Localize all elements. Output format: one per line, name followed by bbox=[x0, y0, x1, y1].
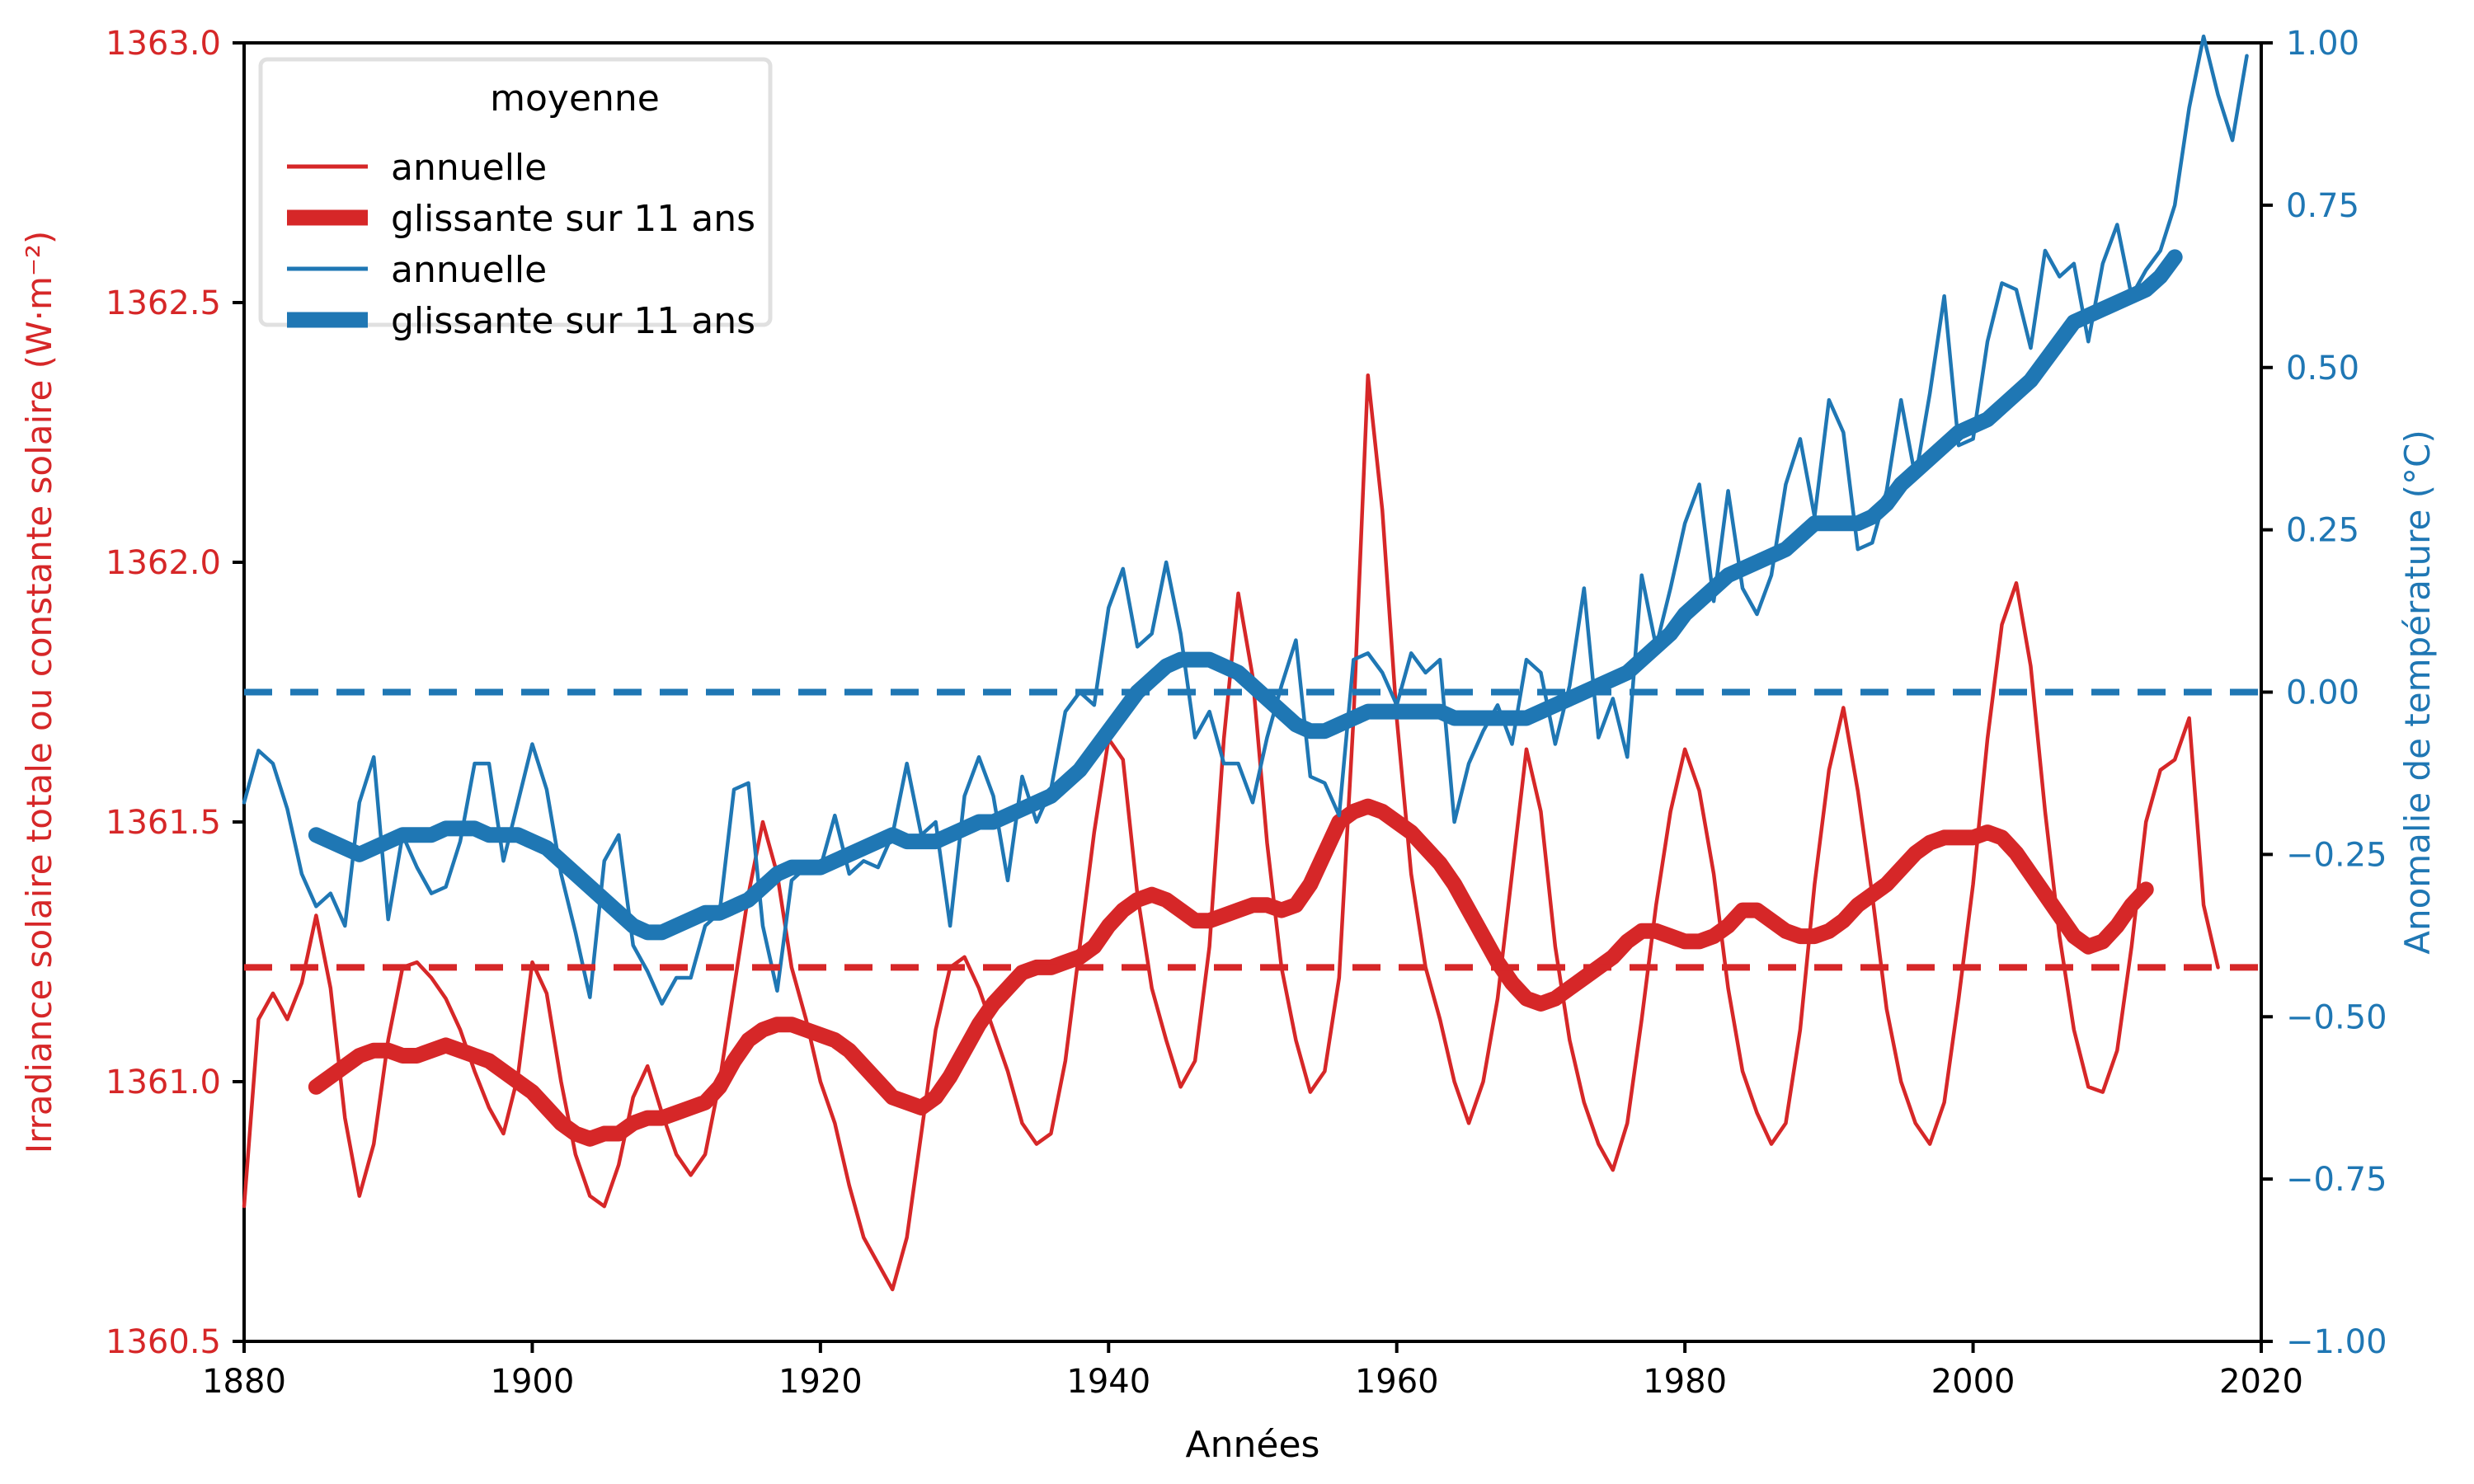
legend-label: annuelle bbox=[391, 147, 547, 189]
y-right-tick-label: 0.50 bbox=[2286, 350, 2359, 387]
x-tick-label: 1920 bbox=[778, 1363, 863, 1401]
y-left-tick-label: 1361.5 bbox=[106, 804, 221, 842]
y-right-tick-label: 0.25 bbox=[2286, 512, 2359, 550]
chart-svg: 18801900192019401960198020002020Années13… bbox=[0, 0, 2474, 1484]
x-tick-label: 1880 bbox=[202, 1363, 286, 1401]
x-tick-label: 1960 bbox=[1355, 1363, 1439, 1401]
chart-figure: 18801900192019401960198020002020Années13… bbox=[0, 0, 2474, 1484]
y-right-tick-label: −0.50 bbox=[2286, 998, 2387, 1036]
y-right-tick-label: 0.00 bbox=[2286, 674, 2359, 712]
y-left-axis-title: Irradiance solaire totale ou constante s… bbox=[19, 231, 59, 1154]
legend-label: glissante sur 11 ans bbox=[391, 198, 755, 240]
series-line bbox=[244, 375, 2218, 1289]
y-left-tick-label: 1362.5 bbox=[106, 284, 221, 322]
x-tick-label: 1980 bbox=[1643, 1363, 1727, 1401]
y-left-tick-label: 1360.5 bbox=[106, 1323, 221, 1361]
y-left-tick-label: 1361.0 bbox=[106, 1064, 221, 1101]
series-line bbox=[316, 257, 2175, 932]
x-axis-title: Années bbox=[1186, 1424, 1320, 1466]
y-right-tick-label: 1.00 bbox=[2286, 25, 2359, 63]
y-right-axis-title: Anomalie de température (°C) bbox=[2397, 430, 2438, 955]
y-right-tick-label: −1.00 bbox=[2286, 1323, 2387, 1361]
legend-title: moyenne bbox=[490, 77, 660, 120]
y-right-tick-label: −0.25 bbox=[2286, 836, 2387, 874]
x-tick-label: 2020 bbox=[2219, 1363, 2303, 1401]
x-tick-label: 2000 bbox=[1931, 1363, 2015, 1401]
series-line bbox=[316, 806, 2146, 1139]
legend-label: glissante sur 11 ans bbox=[391, 300, 755, 342]
y-right-tick-label: −0.75 bbox=[2286, 1161, 2387, 1199]
x-tick-label: 1940 bbox=[1066, 1363, 1150, 1401]
x-tick-label: 1900 bbox=[491, 1363, 575, 1401]
y-right-tick-label: 0.75 bbox=[2286, 187, 2359, 225]
y-left-tick-label: 1363.0 bbox=[106, 25, 221, 63]
legend-label: annuelle bbox=[391, 249, 547, 291]
y-left-tick-label: 1362.0 bbox=[106, 544, 221, 582]
